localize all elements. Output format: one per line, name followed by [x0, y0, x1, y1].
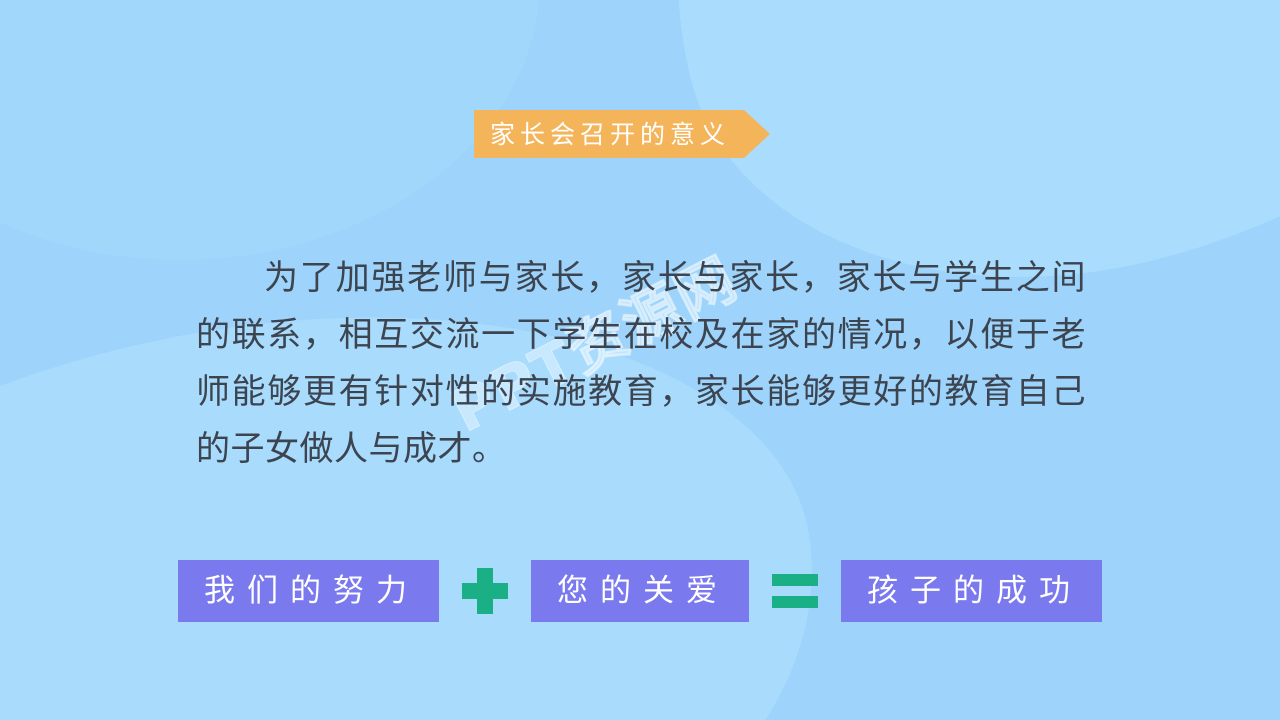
- equals-icon: [749, 560, 841, 622]
- equation-term-label: 我们的努力: [204, 576, 419, 607]
- background-blob-top-left: [0, 0, 540, 260]
- equation-term-label: 您的关爱: [557, 576, 729, 607]
- equation-term-label: 孩子的成功: [867, 576, 1082, 607]
- equation-term-our-effort: 我们的努力: [178, 560, 439, 622]
- title-ribbon: 家长会召开的意义: [474, 110, 770, 158]
- body-paragraph: 为了加强老师与家长，家长与家长，家长与学生之间的联系，相互交流一下学生在校及在家…: [196, 250, 1086, 478]
- slide-canvas: PPT资源网 家长会召开的意义 为了加强老师与家长，家长与家长，家长与学生之间的…: [0, 0, 1280, 720]
- page-title: 家长会召开的意义: [490, 122, 730, 147]
- equation-term-your-care: 您的关爱: [531, 560, 749, 622]
- equation-row: 我们的努力 您的关爱 孩子的成功: [0, 558, 1280, 624]
- plus-glyph: [462, 568, 508, 614]
- equals-glyph: [772, 574, 818, 608]
- title-ribbon-body: 家长会召开的意义: [474, 110, 744, 158]
- title-ribbon-arrow-icon: [744, 110, 770, 158]
- plus-icon: [439, 560, 531, 622]
- equation-term-child-success: 孩子的成功: [841, 560, 1102, 622]
